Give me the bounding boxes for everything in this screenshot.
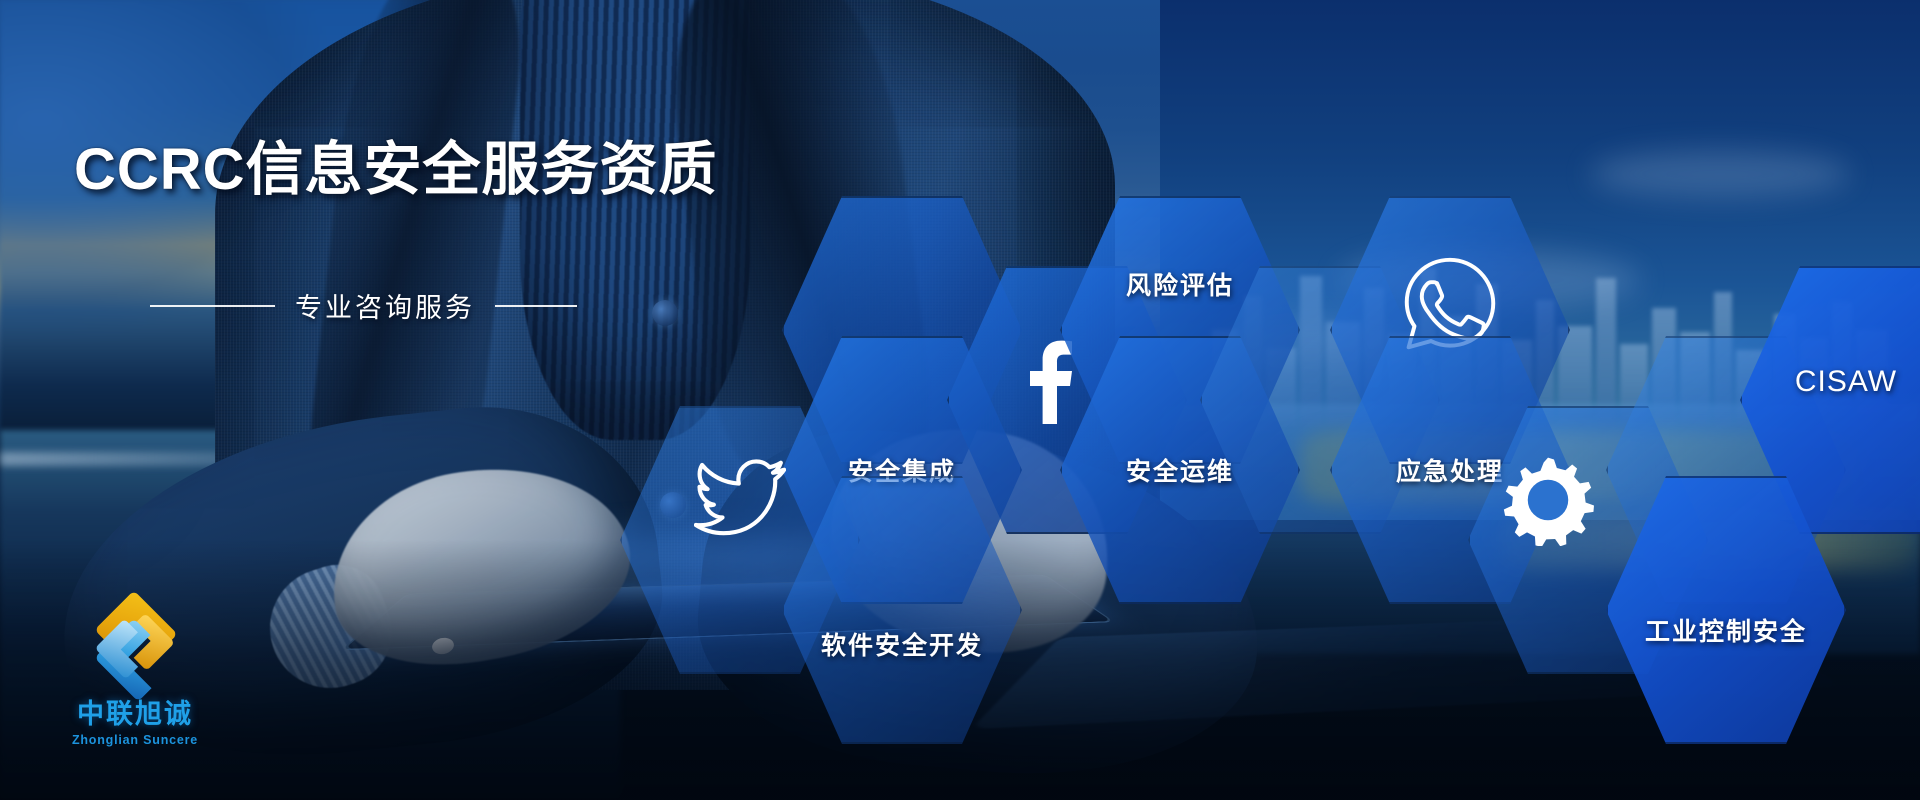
- page-title: CCRC信息安全服务资质: [74, 122, 718, 206]
- hexagon-grid: 安全集成 软件安全开发 风险评估 安全运维: [0, 0, 1920, 800]
- subtitle-text: 专业咨询服务: [295, 286, 475, 325]
- gear-icon: [1502, 454, 1594, 546]
- logo-name-en: Zhonglian Suncere: [72, 733, 198, 747]
- hexagon-label-software-security-dev: 软件安全开发: [821, 626, 983, 662]
- subtitle-row: 专业咨询服务: [150, 286, 577, 325]
- company-logo[interactable]: 中联旭诚 Zhonglian Suncere: [55, 600, 215, 750]
- hexagon-label-risk-assessment: 风险评估: [1126, 266, 1234, 302]
- twitter-bird-icon: [694, 458, 786, 538]
- hexagon-label-emergency-response: 应急处理: [1396, 452, 1504, 488]
- hexagon-label-security-operations: 安全运维: [1126, 452, 1234, 488]
- subtitle-rule-right: [495, 305, 577, 307]
- subtitle-rule-left: [150, 305, 275, 307]
- hexagon-label-industrial-control-security: 工业控制安全: [1645, 612, 1807, 648]
- hexagon-label-cisaw: CISAW: [1795, 365, 1897, 399]
- logo-mark-icon: [89, 600, 181, 690]
- banner-stage: 安全集成 软件安全开发 风险评估 安全运维: [0, 0, 1920, 800]
